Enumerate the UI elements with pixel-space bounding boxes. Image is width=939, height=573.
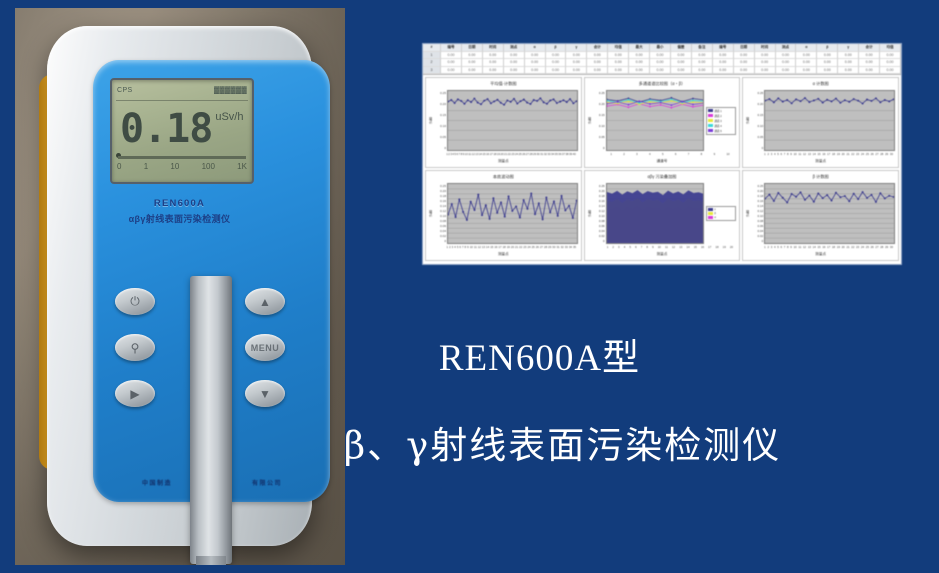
spreadsheet-cell: 0.00 (462, 67, 483, 75)
chart-legend-label: 通道 3 (714, 119, 721, 123)
chart-legend-item: β (708, 212, 734, 215)
chart-legend-item: γ (708, 208, 734, 211)
spreadsheet-cell: 0.00 (546, 67, 567, 75)
chart-y-tick: 0.25 (440, 91, 446, 95)
spreadsheet-cell: 0.00 (817, 67, 838, 75)
spreadsheet-cell: 0.00 (796, 67, 817, 75)
spreadsheet-cell: 日期 (462, 44, 483, 52)
lcd-screen: CPS ▓▓▓▓▓▓ 0.18 uSv/h 0 1 10 100 1K (110, 78, 254, 184)
chart-panel: α 计数图计数0.250.200.150.100.050123456789101… (742, 77, 899, 168)
product-photo: CPS ▓▓▓▓▓▓ 0.18 uSv/h 0 1 10 100 1K (15, 8, 345, 565)
chart-ylabel: 计数 (586, 183, 593, 244)
chart-y-tick: 0.04 (757, 229, 763, 233)
spreadsheet-cell: 编号 (713, 44, 734, 52)
lcd-tick-3: 100 (202, 162, 215, 171)
chart-y-tick: 0.20 (599, 189, 605, 193)
lcd-reading: 0.18 uSv/h (120, 104, 246, 154)
spreadsheet-cell: 0.00 (483, 59, 504, 67)
spreadsheet-cell: 0.00 (755, 59, 776, 67)
lcd-tick-4: 1K (237, 162, 247, 171)
spreadsheet-cell: 0.00 (525, 59, 546, 67)
play-button[interactable]: ▶ (115, 380, 155, 407)
lcd-status-left: CPS (117, 87, 133, 94)
chart-body: 计数0.250.200.180.160.140.120.100.080.060.… (743, 182, 898, 245)
chart-xlabel: 测量点 (743, 158, 898, 167)
spreadsheet-cell: 时间 (755, 44, 776, 52)
spreadsheet-cell: 测点 (504, 44, 525, 52)
spreadsheet-cell: 测点 (776, 44, 797, 52)
chart-title: 多通道谱比较图（α・β） (585, 78, 740, 89)
spreadsheet-cell: 0.00 (566, 52, 587, 60)
spreadsheet-cell: 0.00 (692, 52, 713, 60)
chart-legend-swatch (708, 129, 713, 132)
chart-y-tick: 0.18 (757, 194, 763, 198)
spreadsheet-cell: 0.00 (713, 52, 734, 60)
spreadsheet-cell: 0.00 (671, 67, 692, 75)
lcd-value: 0.18 (120, 109, 212, 149)
menu-button[interactable]: MENU (245, 334, 285, 361)
chart-y-ticks: 0.250.200.150.100.050 (593, 90, 606, 151)
chart-legend-swatch (708, 119, 713, 122)
chart-y-tick: 0.12 (440, 209, 446, 213)
chart-y-ticks: 0.250.200.180.160.140.120.100.080.060.04… (434, 183, 447, 244)
chart-y-tick: 0.20 (440, 189, 446, 193)
chart-y-tick: 0.25 (599, 184, 605, 188)
spreadsheet-cell: 0.00 (817, 52, 838, 60)
spreadsheet-cell: 时间 (483, 44, 504, 52)
chart-y-tick: 0.02 (757, 234, 763, 238)
chart-xlabel: 测量点 (743, 251, 898, 260)
lcd-divider (116, 100, 248, 101)
chart-y-tick: 0.06 (440, 224, 446, 228)
spreadsheet-cell: 0.00 (629, 59, 650, 67)
chart-y-tick: 0.08 (599, 219, 605, 223)
chart-y-tick: 0.14 (440, 204, 446, 208)
chart-legend-item: 通道 5 (708, 129, 734, 133)
spreadsheet-cell: 0.00 (755, 52, 776, 60)
chart-legend-item: 通道 2 (708, 114, 734, 118)
chart-y-tick: 0.08 (757, 219, 763, 223)
spreadsheet-cell: 0.00 (859, 59, 880, 67)
device-model-sublabel: αβγ射线表面污染检测仪 (47, 212, 312, 225)
chart-y-tick: 0.25 (599, 91, 605, 95)
spreadsheet-cell: 0.00 (692, 59, 713, 67)
chart-y-tick: 0.04 (599, 229, 605, 233)
search-button[interactable]: ⚲ (115, 334, 155, 361)
spreadsheet-cell: 0.00 (650, 67, 671, 75)
chart-title: β 计数图 (743, 171, 898, 182)
chart-legend-item: 通道 3 (708, 119, 734, 123)
chart-y-tick: 0 (444, 146, 446, 150)
spreadsheet-cell: 0.00 (838, 67, 859, 75)
spreadsheet-cell: β (817, 44, 838, 52)
spreadsheet-cell: 均值 (880, 44, 901, 52)
chart-y-tick: 0.04 (440, 229, 446, 233)
spreadsheet-cell: 日期 (734, 44, 755, 52)
chart-body: 计数0.250.200.150.100.050通道 1通道 2通道 3通道 4通… (585, 89, 740, 152)
chart-ylabel: 计数 (744, 90, 751, 151)
spreadsheet-cell: 0.00 (587, 59, 608, 67)
software-screenshot: #编号日期时间测点αβγ合计均值最大最小偏差备注编号日期时间测点αβγ合计均值1… (422, 43, 902, 265)
chart-y-tick: 0.15 (757, 113, 763, 117)
spreadsheet-cell: 0.00 (546, 59, 567, 67)
spreadsheet-cell: 0.00 (608, 67, 629, 75)
spreadsheet-cell: 0.00 (880, 67, 901, 75)
chart-y-tick: 0.20 (757, 102, 763, 106)
spreadsheet-cell: α (796, 44, 817, 52)
slide-root: CPS ▓▓▓▓▓▓ 0.18 uSv/h 0 1 10 100 1K (0, 0, 939, 573)
spreadsheet-cell: 0.00 (692, 67, 713, 75)
spreadsheet-cell: 0.00 (734, 52, 755, 60)
spreadsheet-cell: 0.00 (587, 52, 608, 60)
spreadsheet-cell: 0.00 (504, 52, 525, 60)
chart-title: αβγ 污染叠加图 (585, 171, 740, 182)
chart-y-tick: 0.16 (757, 199, 763, 203)
spreadsheet-cell: 0.00 (859, 52, 880, 60)
chart-legend-swatch (708, 212, 713, 215)
chart-legend-swatch (708, 216, 713, 219)
spreadsheet-header-row: #编号日期时间测点αβγ合计均值最大最小偏差备注编号日期时间测点αβγ合计均值 (423, 44, 901, 52)
chart-xlabel: 测量点 (426, 158, 581, 167)
chart-y-tick: 0 (444, 239, 446, 243)
chart-legend: 通道 1通道 2通道 3通道 4通道 5 (706, 107, 736, 135)
up-button[interactable]: ▲ (245, 288, 285, 315)
chart-y-tick: 0 (762, 146, 764, 150)
chart-ylabel: 计数 (427, 183, 434, 244)
chart-y-tick: 0.05 (599, 135, 605, 139)
device-model-label: REN600A (47, 198, 312, 209)
spreadsheet-cell: 0.00 (483, 67, 504, 75)
chart-legend-item: 通道 1 (708, 109, 734, 113)
chart-y-ticks: 0.250.200.150.100.050 (434, 90, 447, 151)
chart-ylabel: 计数 (427, 90, 434, 151)
lcd-scale: 0 1 10 100 1K (117, 162, 247, 171)
chart-body: 计数0.250.200.180.160.140.120.100.080.060.… (585, 182, 740, 245)
spreadsheet-cell: 0.00 (483, 52, 504, 60)
spreadsheet-cell: 0.00 (608, 59, 629, 67)
chart-y-tick: 0.14 (757, 204, 763, 208)
chart-legend-swatch (708, 208, 713, 211)
chart-y-tick: 0.10 (757, 124, 763, 128)
spreadsheet-cell: 备注 (692, 44, 713, 52)
chart-ylabel: 计数 (586, 90, 593, 151)
chart-y-tick: 0.10 (599, 214, 605, 218)
chart-title: 本底波动图 (426, 171, 581, 182)
spreadsheet-cell: 0.00 (462, 52, 483, 60)
device-footnote-left: 中国制造 (142, 478, 172, 487)
spreadsheet-cell: 0.00 (817, 59, 838, 67)
spreadsheet-cell: 0.00 (441, 59, 462, 67)
lcd-status-right: ▓▓▓▓▓▓ (214, 87, 247, 94)
spreadsheet-cell: 0.00 (671, 52, 692, 60)
chart-y-ticks: 0.250.200.180.160.140.120.100.080.060.04… (751, 183, 764, 244)
spreadsheet-cell: 0.00 (776, 59, 797, 67)
spreadsheet-cell: 合计 (859, 44, 880, 52)
spreadsheet-cell: 0.00 (776, 67, 797, 75)
spreadsheet-cell: 0.00 (629, 52, 650, 60)
device-body: CPS ▓▓▓▓▓▓ 0.18 uSv/h 0 1 10 100 1K (47, 26, 312, 546)
chart-xlabel: 测量点 (426, 251, 581, 260)
spreadsheet-cell: 0.00 (776, 52, 797, 60)
chart-y-tick: 0.10 (599, 124, 605, 128)
spreadsheet-cell: 0.00 (566, 67, 587, 75)
chart-y-tick: 0.25 (757, 184, 763, 188)
lcd-unit: uSv/h (215, 111, 243, 123)
spreadsheet-cell: 0.00 (566, 59, 587, 67)
chart-y-tick: 0.05 (757, 135, 763, 139)
chart-y-tick: 0.02 (599, 234, 605, 238)
device-handle-strap (190, 276, 232, 564)
chart-legend: γβα (706, 206, 736, 221)
chart-legend-label: 通道 2 (714, 114, 721, 118)
spreadsheet-cell: 0.00 (629, 67, 650, 75)
chart-legend-swatch (708, 109, 713, 112)
spreadsheet-row-label: # (423, 44, 441, 52)
spreadsheet-cell: 偏差 (671, 44, 692, 52)
spreadsheet-row: 20.000.000.000.000.000.000.000.000.000.0… (423, 59, 901, 67)
chart-y-ticks: 0.250.200.180.160.140.120.100.080.060.04… (593, 183, 606, 244)
chart-y-tick: 0.18 (599, 194, 605, 198)
spreadsheet-grid: #编号日期时间测点αβγ合计均值最大最小偏差备注编号日期时间测点αβγ合计均值1… (423, 44, 901, 75)
chart-y-tick: 0.10 (440, 214, 446, 218)
lcd-status-bar: CPS ▓▓▓▓▓▓ (117, 83, 247, 98)
chart-y-tick: 0.14 (599, 204, 605, 208)
chart-y-tick: 0.12 (599, 209, 605, 213)
spreadsheet-cell: 0.00 (880, 59, 901, 67)
spreadsheet-cell: β (546, 44, 567, 52)
chart-panel: 平均值·计数图计数0.250.200.150.100.0501234567891… (425, 77, 582, 168)
chart-legend-item: 通道 4 (708, 124, 734, 128)
chart-y-tick: 0.25 (440, 184, 446, 188)
chart-title: α 计数图 (743, 78, 898, 89)
chart-grid: 平均值·计数图计数0.250.200.150.100.0501234567891… (423, 75, 901, 263)
chart-y-tick: 0 (603, 239, 605, 243)
spreadsheet-cell: α (525, 44, 546, 52)
spreadsheet-cell: 0.00 (546, 52, 567, 60)
chart-y-tick: 0.16 (440, 199, 446, 203)
chart-y-tick: 0.20 (757, 189, 763, 193)
spreadsheet-cell: 0.00 (713, 59, 734, 67)
spreadsheet-cell: 0.00 (734, 67, 755, 75)
chart-panel: αβγ 污染叠加图计数0.250.200.180.160.140.120.100… (584, 170, 741, 261)
spreadsheet-row: 10.000.000.000.000.000.000.000.000.000.0… (423, 52, 901, 60)
chart-plot-area (764, 183, 895, 244)
spreadsheet-cell: 0.00 (441, 52, 462, 60)
spreadsheet-cell: 均值 (608, 44, 629, 52)
chart-y-tick: 0 (762, 239, 764, 243)
chart-y-ticks: 0.250.200.150.100.050 (751, 90, 764, 151)
chart-y-tick: 0.20 (599, 102, 605, 106)
chart-y-tick: 0.05 (440, 135, 446, 139)
spreadsheet-cell: 0.00 (504, 59, 525, 67)
chart-plot-area (447, 90, 578, 151)
chart-y-tick: 0.10 (757, 214, 763, 218)
spreadsheet-cell: 0.00 (587, 67, 608, 75)
spreadsheet-cell: 0.00 (859, 67, 880, 75)
chart-plot-area (447, 183, 578, 244)
lcd-tick-2: 10 (170, 162, 179, 171)
down-button[interactable]: ▼ (245, 380, 285, 407)
spreadsheet-cell: 最大 (629, 44, 650, 52)
chart-body: 计数0.250.200.180.160.140.120.100.080.060.… (426, 182, 581, 245)
spreadsheet-cell: 0.00 (796, 52, 817, 60)
spreadsheet-cell: 0.00 (796, 59, 817, 67)
chart-y-tick: 0.25 (757, 91, 763, 95)
chart-title: 平均值·计数图 (426, 78, 581, 89)
chart-legend-swatch (708, 124, 713, 127)
chart-panel: β 计数图计数0.250.200.180.160.140.120.100.080… (742, 170, 899, 261)
spreadsheet-cell: 0.00 (650, 59, 671, 67)
spreadsheet-cell: 合计 (587, 44, 608, 52)
chart-panel: 多通道谱比较图（α・β）计数0.250.200.150.100.050通道 1通… (584, 77, 741, 168)
device-footnote-right: 有限公司 (252, 478, 282, 487)
spreadsheet-cell: 0.00 (755, 67, 776, 75)
chart-legend-label: 通道 1 (714, 109, 721, 113)
chart-y-tick: 0.15 (440, 113, 446, 117)
spreadsheet-cell: 最小 (650, 44, 671, 52)
spreadsheet-cell: 0.00 (838, 52, 859, 60)
spreadsheet-cell: 0.00 (525, 52, 546, 60)
chart-legend-label: 通道 4 (714, 124, 721, 128)
chart-y-tick: 0.06 (599, 224, 605, 228)
chart-plot-area (606, 183, 705, 244)
spreadsheet-cell: 0.00 (880, 52, 901, 60)
lcd-tick-0: 0 (117, 162, 121, 171)
chart-y-tick: 0.08 (440, 219, 446, 223)
spreadsheet-cell: 0.00 (838, 59, 859, 67)
lcd-tick-1: 1 (144, 162, 148, 171)
chart-plot-area (764, 90, 895, 151)
spreadsheet-cell: 0.00 (462, 59, 483, 67)
chart-y-tick: 0.15 (599, 113, 605, 117)
spreadsheet-cell: 0.00 (650, 52, 671, 60)
chart-legend-item: α (708, 216, 734, 219)
spreadsheet-cell: γ (838, 44, 859, 52)
chart-y-tick: 0 (603, 146, 605, 150)
power-button[interactable]: ⏻ (115, 288, 155, 315)
chart-legend-label: γ (714, 208, 715, 211)
chart-xlabel: 测量点 (585, 251, 740, 260)
chart-y-tick: 0.12 (757, 209, 763, 213)
spreadsheet-cell: 0.00 (608, 52, 629, 60)
chart-y-tick: 0.20 (440, 102, 446, 106)
spreadsheet-cell: 0.00 (504, 67, 525, 75)
chart-y-tick: 0.18 (440, 194, 446, 198)
spreadsheet-cell: γ (566, 44, 587, 52)
spreadsheet-cell: 0.00 (525, 67, 546, 75)
lcd-bargraph (118, 156, 246, 159)
chart-body: 计数0.250.200.150.100.050 (426, 89, 581, 152)
chart-y-tick: 0.06 (757, 224, 763, 228)
chart-panel: 本底波动图计数0.250.200.180.160.140.120.100.080… (425, 170, 582, 261)
chart-ylabel: 计数 (744, 183, 751, 244)
spreadsheet-cell: 编号 (441, 44, 462, 52)
spreadsheet-row-label: 2 (423, 59, 441, 67)
spreadsheet-cell: 0.00 (713, 67, 734, 75)
spreadsheet-cell: 0.00 (441, 67, 462, 75)
chart-plot-area (606, 90, 705, 151)
chart-y-tick: 0.02 (440, 234, 446, 238)
chart-legend-label: 通道 5 (714, 129, 721, 133)
chart-body: 计数0.250.200.150.100.050 (743, 89, 898, 152)
chart-y-tick: 0.10 (440, 124, 446, 128)
chart-legend-label: α (714, 216, 716, 219)
spreadsheet-cell: 0.00 (734, 59, 755, 67)
chart-xlabel: 通道号 (585, 158, 740, 167)
spreadsheet-row-label: 1 (423, 52, 441, 60)
spreadsheet-row: 30.000.000.000.000.000.000.000.000.000.0… (423, 67, 901, 75)
spreadsheet-row-label: 3 (423, 67, 441, 75)
chart-legend-swatch (708, 114, 713, 117)
chart-legend-label: β (714, 212, 716, 215)
spreadsheet-cell: 0.00 (671, 59, 692, 67)
chart-y-tick: 0.16 (599, 199, 605, 203)
